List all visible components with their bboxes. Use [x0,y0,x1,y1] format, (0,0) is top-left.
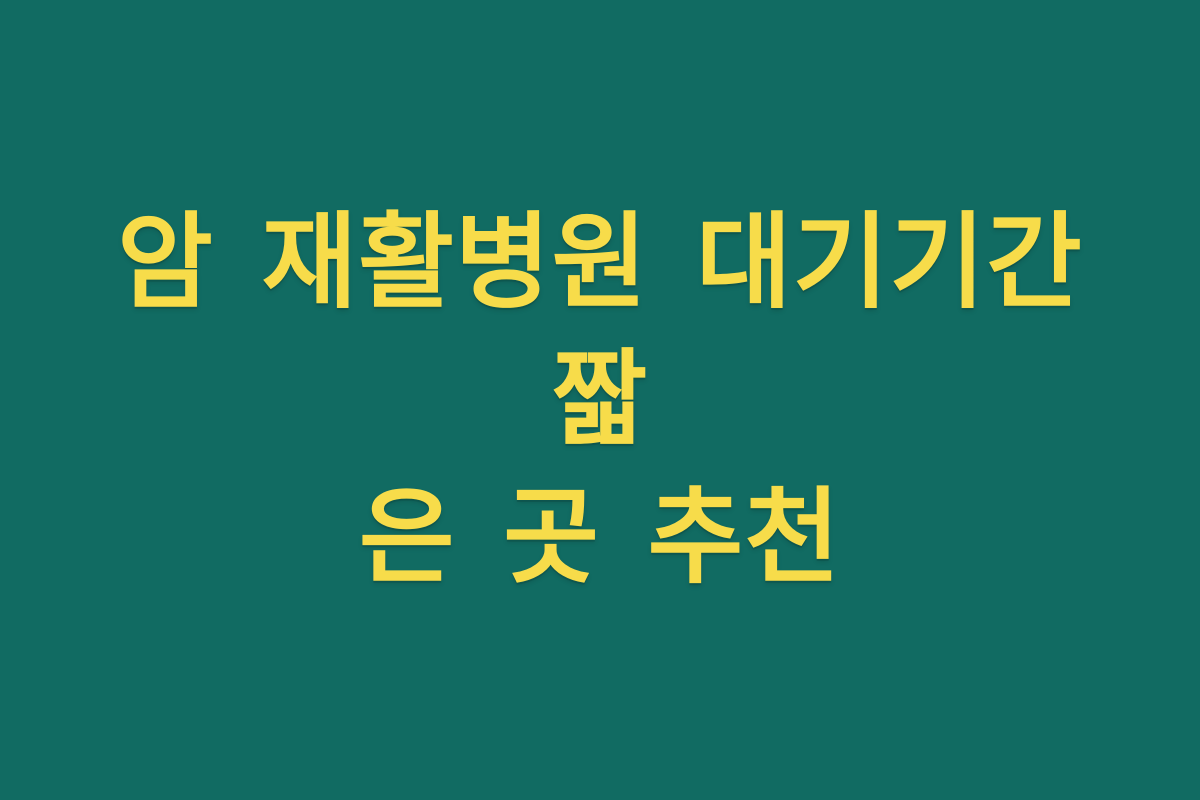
page-title: 암 재활병원 대기기간 짧 은 곳 추천 [70,194,1130,606]
headline-block: 암 재활병원 대기기간 짧 은 곳 추천 암 재활병원 대기기간 짧 은 곳 추… [70,194,1130,606]
title-card-banner: 암 재활병원 대기기간 짧 은 곳 추천 암 재활병원 대기기간 짧 은 곳 추… [0,0,1200,800]
